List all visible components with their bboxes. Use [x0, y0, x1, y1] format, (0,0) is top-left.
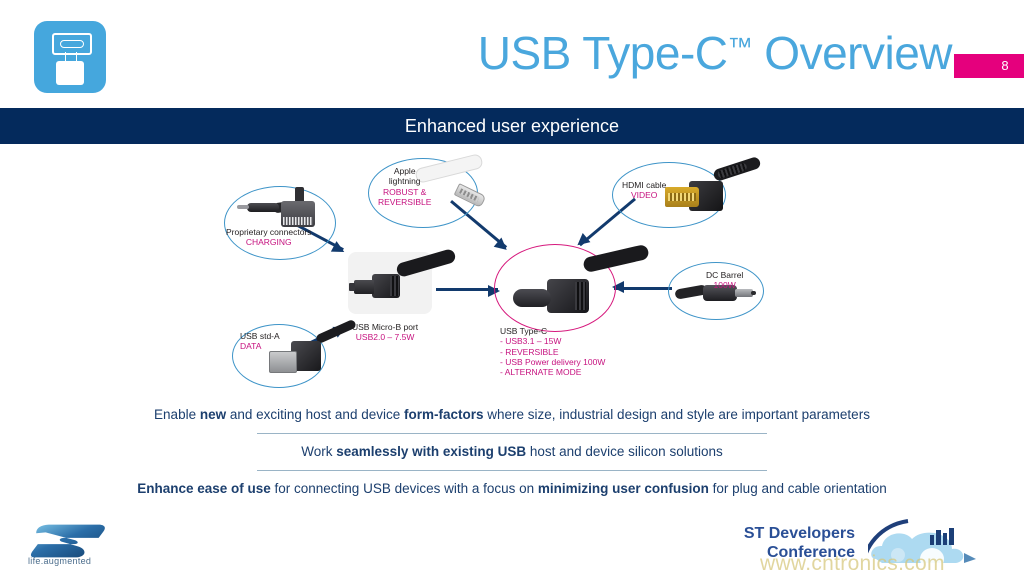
st-logo: [30, 523, 108, 559]
label-text: lightning: [378, 176, 431, 186]
label-usb-type-c: USB Type-C - USB3.1 – 15W - REVERSIBLE -…: [500, 326, 605, 378]
bubble-usb-type-c: [494, 244, 616, 332]
plain-text: and exciting host and device: [226, 407, 404, 422]
label-text: HDMI cable: [622, 180, 666, 190]
st-tagline: life.augmented: [28, 556, 91, 566]
emphasis-text: form-factors: [404, 407, 484, 422]
label-text: USB Type-C: [500, 326, 605, 336]
plain-text: for plug and cable orientation: [709, 481, 887, 496]
label-highlight: VIDEO: [622, 190, 666, 200]
page-title-main: USB Type-C: [478, 27, 728, 79]
key-messages: Enable new and exciting host and device …: [0, 405, 1024, 499]
label-highlight: - USB3.1 – 15W: [500, 336, 605, 346]
label-usb-micro-b: USB Micro-B port USB2.0 – 7.5W: [352, 322, 418, 343]
usb-micro-b-card: [348, 252, 432, 314]
usb-type-c-diagram: Proprietary connectors CHARGING Apple li…: [0, 148, 1024, 398]
usb-c-device-body-icon: [56, 61, 84, 85]
usb-c-port-icon: [34, 21, 106, 93]
section-banner-label: Enhanced user experience: [0, 116, 1024, 137]
emphasis-text: Enhance ease of use: [137, 481, 271, 496]
label-apple-lightning: Apple lightning ROBUST & REVERSIBLE: [378, 166, 431, 207]
arrow-dcbarrel-to-typec: [614, 287, 672, 290]
label-highlight: - REVERSIBLE: [500, 347, 605, 357]
plain-text: where size, industrial design and style …: [484, 407, 870, 422]
bubble-proprietary-connectors: [224, 186, 336, 260]
plain-text: for connecting USB devices with a focus …: [271, 481, 538, 496]
divider-2: [257, 470, 767, 471]
emphasis-text: seamlessly with existing USB: [336, 444, 526, 459]
slide: USB Type-C™ Overview 8 Enhanced user exp…: [0, 0, 1024, 577]
label-highlight: DATA: [240, 341, 280, 351]
key-message-2: Work seamlessly with existing USB host a…: [0, 442, 1024, 462]
label-text: Proprietary connectors: [226, 227, 312, 237]
emphasis-text: minimizing user confusion: [538, 481, 709, 496]
label-highlight: USB2.0 – 7.5W: [352, 332, 418, 342]
label-text: USB Micro-B port: [352, 322, 418, 332]
label-highlight: - ALTERNATE MODE: [500, 367, 605, 377]
trademark-symbol: ™: [728, 33, 753, 61]
emphasis-text: new: [200, 407, 226, 422]
page-title-tail: Overview: [752, 27, 952, 79]
label-highlight: CHARGING: [226, 237, 312, 247]
usb-c-neck-icon: [65, 52, 77, 61]
plain-text: Enable: [154, 407, 200, 422]
label-proprietary-connectors: Proprietary connectors CHARGING: [226, 227, 312, 248]
label-dc-barrel: DC Barrel 100W: [706, 270, 743, 291]
page-title: USB Type-C™ Overview: [478, 26, 952, 80]
label-hdmi-cable: HDMI cable VIDEO: [622, 180, 666, 201]
label-highlight: - USB Power delivery 100W: [500, 357, 605, 367]
banner-underline: [0, 144, 1024, 147]
plain-text: host and device silicon solutions: [526, 444, 723, 459]
divider-1: [257, 433, 767, 434]
label-text: DC Barrel: [706, 270, 743, 280]
label-highlight: 100W: [706, 280, 743, 290]
label-text: Apple: [378, 166, 431, 176]
label-highlight: REVERSIBLE: [378, 197, 431, 207]
arrow-microb-to-typec: [436, 288, 498, 291]
plain-text: Work: [301, 444, 336, 459]
site-watermark: www.cntronics.com: [760, 552, 1024, 576]
key-message-3: Enhance ease of use for connecting USB d…: [0, 479, 1024, 499]
label-usb-std-a: USB std-A DATA: [240, 331, 280, 352]
label-highlight: ROBUST &: [378, 187, 431, 197]
conference-line-1: ST Developers: [735, 524, 855, 543]
key-message-1: Enable new and exciting host and device …: [0, 405, 1024, 425]
section-banner: Enhanced user experience: [0, 108, 1024, 144]
label-text: USB std-A: [240, 331, 280, 341]
page-number: 8: [994, 55, 1016, 77]
